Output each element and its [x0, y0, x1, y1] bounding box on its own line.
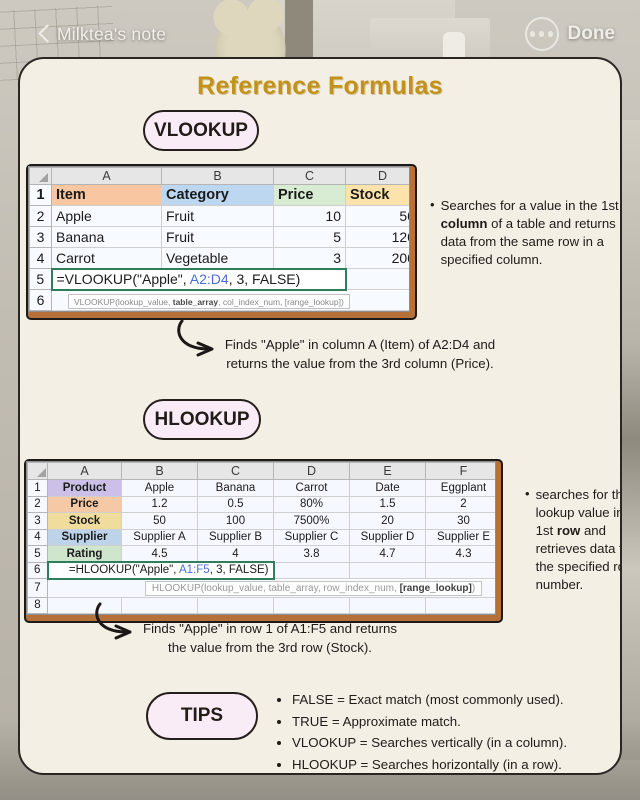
done-button[interactable]: Done	[568, 23, 616, 45]
cell-c3[interactable]: 5	[274, 227, 346, 248]
cell-e2[interactable]: 1.5	[350, 496, 426, 513]
cell-d8[interactable]	[274, 597, 350, 614]
cell-d3[interactable]: 7500%	[274, 513, 350, 530]
row-header-4[interactable]: 4	[28, 529, 48, 546]
column-header-row: A B C D	[30, 168, 411, 185]
tooltip-bold: table_array	[173, 297, 218, 307]
cell-a5[interactable]: Rating	[48, 546, 122, 563]
vlookup-syntax-tooltip: VLOOKUP(lookup_value, table_array, col_i…	[68, 294, 350, 309]
vlookup-spreadsheet-frame: A B C D 1 Item Category Price Stock 2 Ap…	[26, 164, 417, 320]
row-header-2[interactable]: 2	[30, 206, 52, 227]
vlookup-caption: Finds "Apple" in column A (Item) of A2:D…	[210, 335, 510, 374]
formula-range-ref: A1:F5	[179, 564, 210, 576]
cell-c3[interactable]: 100	[198, 513, 274, 530]
page-title: Reference Formulas	[20, 72, 620, 101]
row-header-5[interactable]: 5	[28, 546, 48, 563]
chevron-left-icon	[38, 24, 50, 44]
formula-suffix: , 3, FALSE)	[210, 564, 269, 576]
tooltip-row: 6 VLOOKUP(lookup_value, table_array, col…	[30, 290, 411, 311]
list-item: VLOOKUP = Searches vertically (in a colu…	[292, 732, 608, 754]
tooltip-post: , col_index_num, [range_lookup])	[218, 297, 344, 307]
pill-label: HLOOKUP	[155, 409, 250, 431]
bullet-icon: •	[525, 486, 530, 594]
cell-f4[interactable]: Supplier E	[426, 529, 497, 546]
formula-range-ref: A2:D4	[190, 271, 229, 287]
cell-a2[interactable]: Price	[48, 496, 122, 513]
section-pill-hlookup[interactable]: HLOOKUP	[143, 399, 261, 440]
cell-a4[interactable]: Supplier	[48, 529, 122, 546]
cell-c4[interactable]: Supplier B	[198, 529, 274, 546]
cell-f5[interactable]: 4.3	[426, 546, 497, 563]
cell-f3[interactable]: 30	[426, 513, 497, 530]
table-row: 1 Product Apple Banana Carrot Date Eggpl…	[28, 480, 497, 497]
cell-e1[interactable]: Date	[350, 480, 426, 497]
cell-a3[interactable]: Stock	[48, 513, 122, 530]
col-header-a[interactable]: A	[52, 168, 162, 185]
col-header-d[interactable]: D	[274, 463, 350, 480]
cell-d2[interactable]: 80%	[274, 496, 350, 513]
col-header-b[interactable]: B	[162, 168, 274, 185]
cell-f6[interactable]	[426, 562, 497, 579]
hlookup-description-text: searches for the lookup value in the 1st…	[536, 486, 622, 594]
row-header-1[interactable]: 1	[28, 480, 48, 497]
cell-a3[interactable]: Banana	[52, 227, 162, 248]
hlookup-description: • searches for the lookup value in the 1…	[525, 486, 622, 594]
formula-prefix: =VLOOKUP("Apple",	[57, 271, 190, 287]
cell-b3[interactable]: Fruit	[162, 227, 274, 248]
cell-e5[interactable]: 4.7	[350, 546, 426, 563]
cell-c1[interactable]: Price	[274, 185, 346, 206]
hlookup-grid: A B C D E F 1 Product Apple Banana Carro…	[27, 462, 496, 614]
row-header-2[interactable]: 2	[28, 496, 48, 513]
hlookup-spreadsheet[interactable]: A B C D E F 1 Product Apple Banana Carro…	[26, 461, 496, 615]
cell-d1[interactable]: Carrot	[274, 480, 350, 497]
cell-b3[interactable]: 50	[122, 513, 198, 530]
caption-line-2: the value from the 3rd row (Stock).	[120, 638, 420, 657]
col-header-e[interactable]: E	[350, 463, 426, 480]
formula-prefix: =HLOOKUP("Apple",	[69, 564, 179, 576]
table-row: 1 Item Category Price Stock	[30, 185, 411, 206]
col-header-c[interactable]: C	[274, 168, 346, 185]
vlookup-spreadsheet[interactable]: A B C D 1 Item Category Price Stock 2 Ap…	[28, 166, 410, 312]
cell-e6[interactable]	[350, 562, 426, 579]
row-header-1[interactable]: 1	[30, 185, 52, 206]
cell-a2[interactable]: Apple	[52, 206, 162, 227]
cell-c2[interactable]: 0.5	[198, 496, 274, 513]
row-header-6[interactable]: 6	[30, 290, 52, 311]
vlookup-description: • Searches for a value in the 1st column…	[430, 197, 622, 269]
formula-tooltip-container: VLOOKUP(lookup_value, table_array, col_i…	[52, 290, 411, 311]
col-header-b[interactable]: B	[122, 463, 198, 480]
list-item: FALSE = Exact match (most commonly used)…	[292, 689, 608, 711]
row-header-3[interactable]: 3	[30, 227, 52, 248]
cell-d4[interactable]: Supplier C	[274, 529, 350, 546]
cell-a4[interactable]: Carrot	[52, 248, 162, 269]
tooltip-post: )	[472, 583, 475, 594]
caption-line-1: Finds "Apple" in row 1 of A1:F5 and retu…	[120, 619, 420, 638]
cell-b2[interactable]: 1.2	[122, 496, 198, 513]
section-pill-vlookup[interactable]: VLOOKUP	[143, 110, 259, 151]
table-row: 2 Price 1.2 0.5 80% 1.5 2	[28, 496, 497, 513]
desc-bold: row	[557, 523, 580, 538]
hlookup-syntax-tooltip: HLOOKUP(lookup_value, table_array, row_i…	[145, 581, 482, 596]
cell-d4[interactable]: 200	[346, 248, 411, 269]
cell-f8[interactable]	[426, 597, 497, 614]
back-button[interactable]: Milktea's note	[38, 24, 166, 45]
select-all-corner-icon[interactable]	[30, 168, 52, 185]
tooltip-bold: [range_lookup]	[400, 583, 472, 594]
desc-part-1: Searches for a value in the 1st	[441, 198, 619, 213]
hlookup-spreadsheet-frame: A B C D E F 1 Product Apple Banana Carro…	[24, 459, 503, 623]
vlookup-description-text: Searches for a value in the 1st column o…	[441, 197, 622, 269]
tooltip-pre: HLOOKUP(lookup_value, table_array, row_i…	[152, 583, 400, 594]
cell-b4[interactable]: Supplier A	[122, 529, 198, 546]
col-header-c[interactable]: C	[198, 463, 274, 480]
col-header-a[interactable]: A	[48, 463, 122, 480]
cell-d2[interactable]: 50	[346, 206, 411, 227]
cell-f2[interactable]: 2	[426, 496, 497, 513]
hlookup-caption: Finds "Apple" in row 1 of A1:F5 and retu…	[120, 619, 420, 658]
tips-list: FALSE = Exact match (most commonly used)…	[278, 689, 608, 775]
cell-f1[interactable]: Eggplant	[426, 480, 497, 497]
table-row: 3 Banana Fruit 5 120	[30, 227, 411, 248]
cell-e3[interactable]: 20	[350, 513, 426, 530]
row-header-6[interactable]: 6	[28, 562, 48, 579]
row-header-7[interactable]: 7	[28, 579, 48, 598]
row-header-5[interactable]: 5	[30, 269, 52, 290]
cell-b5[interactable]: 4.5	[122, 546, 198, 563]
formula-row: 6 =HLOOKUP("Apple", A1:F5, 3, FALSE)	[28, 562, 497, 579]
cell-b1[interactable]: Apple	[122, 480, 198, 497]
cell-e8[interactable]	[350, 597, 426, 614]
cell-b1[interactable]: Category	[162, 185, 274, 206]
caption-line-2: returns the value from the 3rd column (P…	[210, 354, 510, 373]
formula-row: 5 =VLOOKUP("Apple", A2:D4, 3, FALSE)	[30, 269, 411, 290]
cell-d5[interactable]: 3.8	[274, 546, 350, 563]
cell-d5[interactable]	[346, 269, 411, 290]
pill-label: TIPS	[181, 705, 223, 727]
pill-label: VLOOKUP	[154, 120, 248, 142]
table-row: 4 Carrot Vegetable 3 200	[30, 248, 411, 269]
cell-a1[interactable]: Product	[48, 480, 122, 497]
cell-c1[interactable]: Banana	[198, 480, 274, 497]
row-header-8[interactable]: 8	[28, 597, 48, 614]
cell-c2[interactable]: 10	[274, 206, 346, 227]
table-row: 4 Supplier Supplier A Supplier B Supplie…	[28, 529, 497, 546]
cell-c4[interactable]: 3	[274, 248, 346, 269]
column-header-row: A B C D E F	[28, 463, 497, 480]
note-card: Reference Formulas VLOOKUP A B C D 1 Ite…	[18, 57, 622, 775]
bullet-icon: •	[430, 197, 435, 269]
table-row: 3 Stock 50 100 7500% 20 30	[28, 513, 497, 530]
table-row: 2 Apple Fruit 10 50	[30, 206, 411, 227]
row-header-4[interactable]: 4	[30, 248, 52, 269]
formula-tooltip-container: HLOOKUP(lookup_value, table_array, row_i…	[48, 579, 497, 598]
vlookup-grid: A B C D 1 Item Category Price Stock 2 Ap…	[29, 167, 410, 311]
tooltip-pre: VLOOKUP(lookup_value,	[74, 297, 173, 307]
select-all-corner-icon[interactable]	[28, 463, 48, 480]
cell-c5[interactable]: 4	[198, 546, 274, 563]
desc-bold: column	[441, 216, 488, 231]
formula-suffix: , 3, FALSE)	[229, 271, 301, 287]
note-title-label: Milktea's note	[57, 24, 166, 45]
done-group[interactable]: Done	[525, 17, 616, 51]
cell-d6[interactable]	[274, 562, 350, 579]
cell-e4[interactable]: Supplier D	[350, 529, 426, 546]
row-header-3[interactable]: 3	[28, 513, 48, 530]
caption-line-1: Finds "Apple" in column A (Item) of A2:D…	[210, 335, 510, 354]
col-header-d[interactable]: D	[346, 168, 411, 185]
section-pill-tips[interactable]: TIPS	[146, 692, 258, 740]
cell-d1[interactable]: Stock	[346, 185, 411, 206]
hlookup-formula-cell[interactable]: =HLOOKUP("Apple", A1:F5, 3, FALSE)	[48, 562, 274, 579]
cell-a1[interactable]: Item	[52, 185, 162, 206]
list-item: HLOOKUP = Searches horizontally (in a ro…	[292, 754, 608, 775]
table-row: 5 Rating 4.5 4 3.8 4.7 4.3	[28, 546, 497, 563]
more-dots-icon[interactable]	[525, 17, 559, 51]
top-navigation-bar: Milktea's note Done	[0, 0, 640, 68]
col-header-f[interactable]: F	[426, 463, 497, 480]
tooltip-row: 7 HLOOKUP(lookup_value, table_array, row…	[28, 579, 497, 598]
cell-b4[interactable]: Vegetable	[162, 248, 274, 269]
cell-b2[interactable]: Fruit	[162, 206, 274, 227]
cell-c8[interactable]	[198, 597, 274, 614]
cell-d3[interactable]: 120	[346, 227, 411, 248]
list-item: TRUE = Approximate match.	[292, 711, 608, 733]
vlookup-formula-cell[interactable]: =VLOOKUP("Apple", A2:D4, 3, FALSE)	[52, 269, 346, 290]
